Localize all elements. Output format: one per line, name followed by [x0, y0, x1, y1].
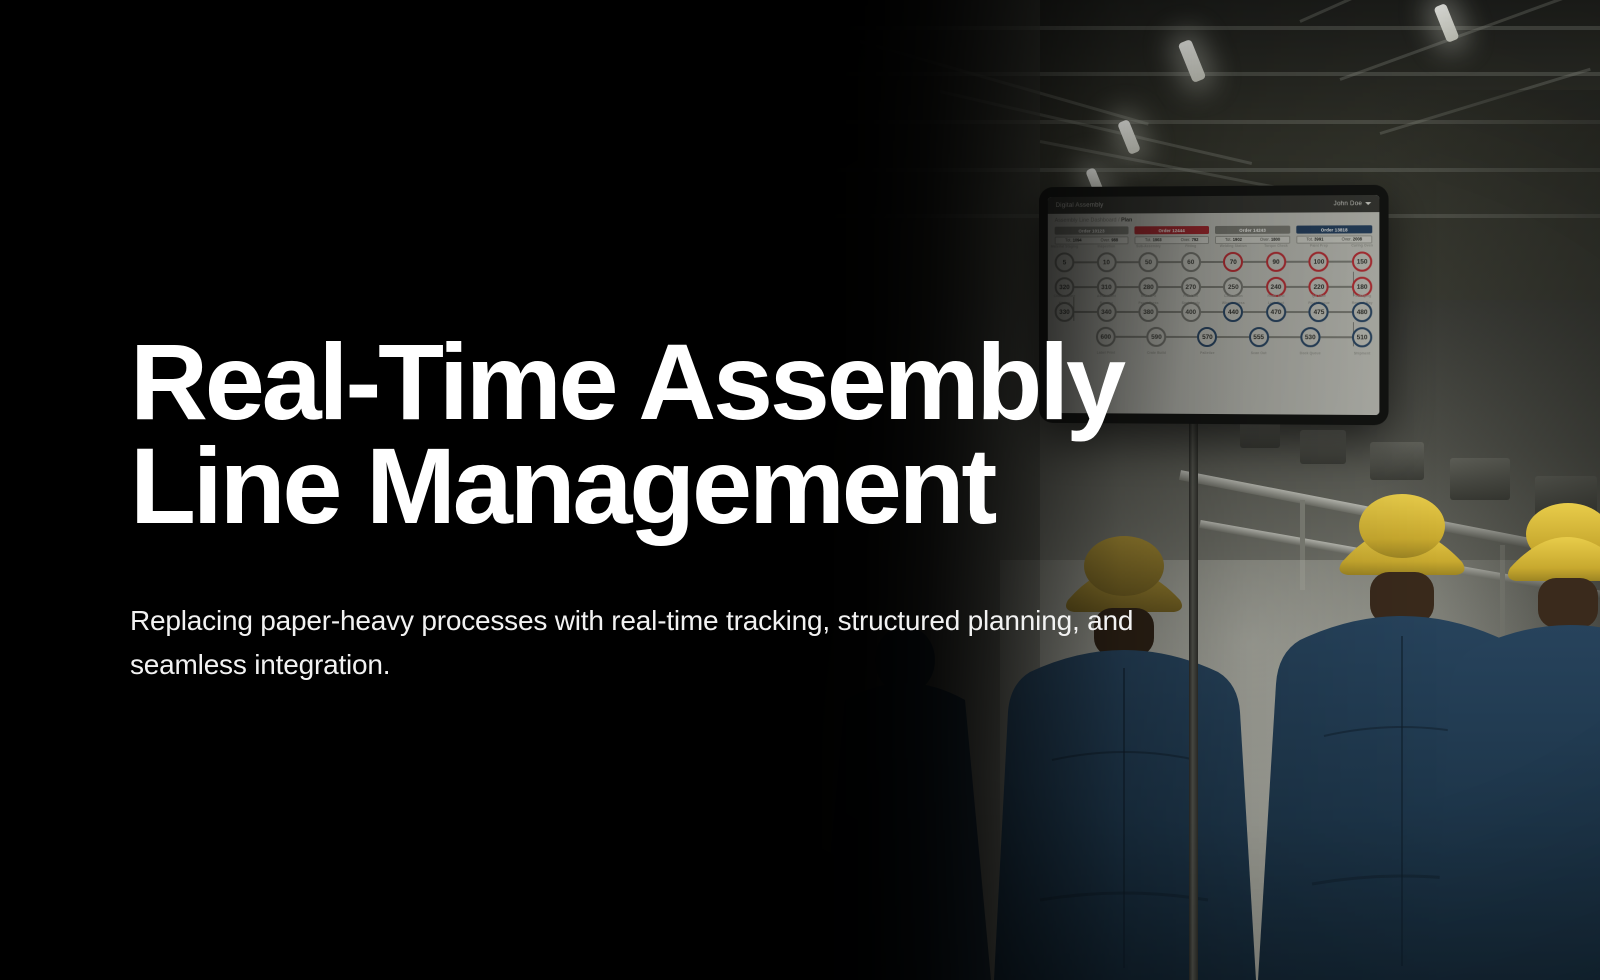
order-card-title: Order 12444 — [1134, 226, 1209, 234]
process-node-label: Brake Fit — [1141, 294, 1156, 298]
process-node-label: Paint Prep — [1310, 244, 1328, 248]
process-link — [1116, 286, 1138, 287]
process-link — [1243, 286, 1266, 287]
process-node-label: Axle Mount — [1097, 294, 1116, 298]
process-node[interactable]: 440Calibration — [1223, 302, 1243, 322]
process-node[interactable]: 150Curing Oven — [1352, 252, 1372, 272]
process-link — [1201, 286, 1224, 287]
process-node-label: Curing Oven — [1351, 243, 1373, 247]
hero-copy: Real-Time Assembly Line Management Repla… — [130, 330, 1310, 686]
breadcrumb-parent[interactable]: Assembly Line Dashboard — [1055, 217, 1117, 223]
process-node-label: Inspection — [1098, 244, 1116, 248]
order-card[interactable]: Order 10123Tot. 1094Over. 988 — [1055, 226, 1129, 244]
process-node[interactable]: 70Welding Station — [1223, 252, 1243, 272]
process-node-label: Torque Check — [1264, 244, 1288, 248]
process-link — [1329, 311, 1352, 312]
order-card-title: Order 14243 — [1215, 226, 1290, 234]
order-cards-row: Order 10123Tot. 1094Over. 988Order 12444… — [1055, 225, 1373, 244]
breadcrumb: Assembly Line Dashboard / Plan — [1055, 216, 1373, 224]
process-link — [1286, 261, 1309, 262]
process-node[interactable]: 470Road Test — [1266, 302, 1286, 322]
order-metric-total: Tot. 3991 — [1306, 237, 1323, 242]
process-link — [1243, 261, 1266, 262]
user-menu[interactable]: John Doe — [1334, 200, 1372, 207]
order-metric-over: Over. 2008 — [1342, 236, 1362, 241]
process-link — [1329, 261, 1352, 262]
process-link — [1243, 311, 1266, 312]
process-node-label: Calibration — [1224, 294, 1243, 298]
process-node[interactable]: 100Paint Prep — [1309, 252, 1329, 272]
process-node[interactable]: 480Packaging — [1352, 302, 1372, 322]
order-card-metrics: Tot. 1094Over. 988 — [1055, 236, 1129, 244]
process-node-label: Sub-Assembly — [1136, 244, 1161, 248]
process-node-label: Fluid Fill — [1183, 294, 1198, 298]
process-node-label: Packaging — [1353, 294, 1371, 298]
process-link — [1074, 311, 1096, 312]
process-node[interactable]: 60Fitting — [1181, 252, 1201, 272]
process-node-label: QA Gate — [1312, 294, 1326, 298]
breadcrumb-current: Plan — [1121, 217, 1132, 223]
hard-hat-icon — [1508, 537, 1600, 581]
user-name: John Doe — [1334, 200, 1363, 207]
dashboard-header: Digital Assembly John Doe — [1048, 195, 1380, 214]
process-link — [1286, 311, 1309, 312]
headline-line-1: Real-Time Assembly — [130, 321, 1123, 442]
process-node-label: Chassis Line — [1054, 294, 1076, 298]
process-node[interactable]: 5Material Staging — [1055, 252, 1075, 272]
process-link — [1320, 337, 1352, 338]
process-node[interactable]: 380Brake Fit — [1139, 302, 1159, 322]
process-link — [1329, 286, 1352, 287]
order-metric-over: Over. 792 — [1181, 237, 1199, 242]
process-node-label: Road Test — [1267, 294, 1284, 298]
chevron-down-icon — [1365, 202, 1371, 205]
process-node[interactable]: 50Sub-Assembly — [1139, 252, 1159, 272]
order-card[interactable]: Order 14243Tot. 1902Over. 1800 — [1215, 226, 1290, 244]
process-node[interactable]: 330Chassis Line — [1055, 302, 1075, 322]
hard-hat-icon — [1359, 494, 1445, 558]
page-title: Real-Time Assembly Line Management — [130, 330, 1310, 537]
process-link — [1286, 286, 1309, 287]
process-link — [1116, 262, 1138, 263]
process-row: 5Material Staging10Inspection50Sub-Assem… — [1055, 249, 1373, 275]
order-card[interactable]: Order 12444Tot. 1903Over. 792 — [1134, 226, 1209, 244]
headline-line-2: Line Management — [130, 434, 1310, 538]
process-link — [1074, 262, 1096, 263]
process-link — [1158, 286, 1180, 287]
order-card-title: Order 13818 — [1296, 225, 1372, 233]
process-node[interactable]: 475QA Gate — [1309, 302, 1329, 322]
order-card-metrics: Tot. 3991Over. 2008 — [1296, 235, 1372, 243]
process-node[interactable]: 510Shipment — [1352, 327, 1372, 347]
process-link — [1158, 311, 1180, 312]
order-card-metrics: Tot. 1902Over. 1800 — [1215, 235, 1290, 243]
process-link — [1201, 311, 1224, 312]
app-title: Digital Assembly — [1056, 202, 1104, 209]
breadcrumb-separator: / — [1118, 217, 1119, 223]
hero-section: Digital Assembly John Doe Assembly Line … — [0, 0, 1600, 980]
order-card-title: Order 10123 — [1055, 226, 1129, 234]
process-node-label: Fitting — [1185, 244, 1196, 248]
order-card-metrics: Tot. 1903Over. 792 — [1134, 236, 1209, 244]
process-node[interactable]: 340Axle Mount — [1097, 302, 1117, 322]
process-link — [1074, 286, 1096, 287]
order-metric-total: Tot. 1094 — [1065, 238, 1082, 243]
order-metric-over: Over. 988 — [1101, 237, 1119, 242]
process-link — [1116, 311, 1138, 312]
worker-figure — [1434, 503, 1600, 980]
hero-subtitle: Replacing paper-heavy processes with rea… — [130, 599, 1230, 686]
process-node[interactable]: 10Inspection — [1097, 252, 1117, 272]
order-metric-total: Tot. 1903 — [1145, 237, 1162, 242]
process-node-label: Material Staging — [1051, 244, 1078, 248]
order-card[interactable]: Order 13818Tot. 3991Over. 2008 — [1296, 225, 1372, 243]
order-metric-total: Tot. 1902 — [1225, 237, 1242, 242]
process-link — [1201, 261, 1224, 262]
order-metric-over: Over. 1800 — [1260, 237, 1280, 242]
process-node[interactable]: 400Fluid Fill — [1181, 302, 1201, 322]
process-node-label: Shipment — [1354, 351, 1371, 355]
process-link — [1158, 261, 1180, 262]
process-node-label: Welding Station — [1220, 244, 1247, 248]
process-node[interactable]: 90Torque Check — [1266, 252, 1286, 272]
